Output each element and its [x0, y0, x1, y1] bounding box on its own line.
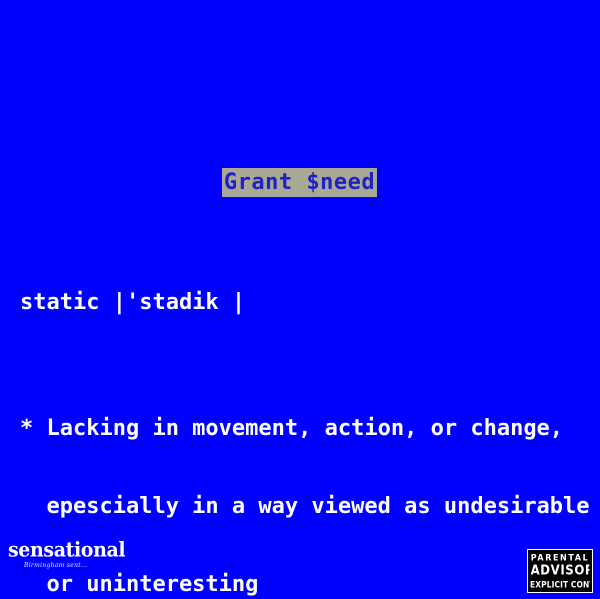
parental-advisory-label: PARENTAL ADVISORY EXPLICIT CONTENT [527, 549, 593, 593]
definition-line-3: or uninteresting [20, 572, 586, 598]
album-title: Grant $need [224, 172, 375, 194]
logo-subtitle: Birmingham sent... [24, 562, 118, 569]
definition-line-1: * Lacking in movement, action, or change… [20, 416, 586, 442]
advisory-line-explicit-content: EXPLICIT CONTENT [530, 578, 590, 591]
logo-wordmark: sensational [8, 539, 118, 561]
title-chip: Grant $need [222, 168, 377, 197]
album-cover-canvas: Grant $need static |'stadik | * Lacking … [0, 0, 600, 599]
sensational-logo: sensational Birmingham sent... [8, 539, 118, 569]
advisory-line-advisory: ADVISORY [531, 562, 590, 578]
definition-line-2: epescially in a way viewed as undesirabl… [20, 494, 586, 520]
pronunciation-line: static |'stadik | [20, 290, 586, 316]
